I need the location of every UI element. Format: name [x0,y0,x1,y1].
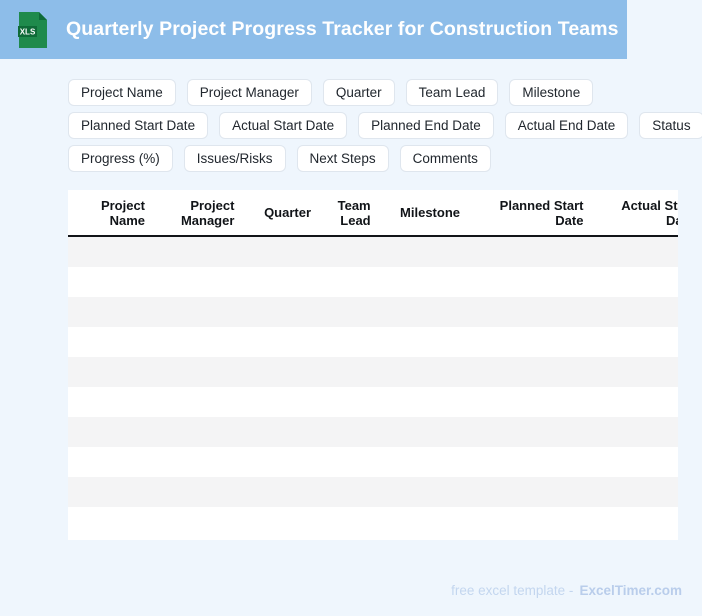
table-cell[interactable] [466,477,589,507]
table-cell[interactable] [466,417,589,447]
table-row[interactable] [68,327,678,357]
table-row[interactable] [68,387,678,417]
table-cell[interactable] [377,387,466,417]
table-cell[interactable] [317,477,377,507]
table-cell[interactable] [466,447,589,477]
table-cell[interactable] [377,447,466,477]
field-chip-quarter[interactable]: Quarter [323,79,395,106]
column-header-planned-start-date[interactable]: Planned Start Date [466,190,589,236]
table-cell[interactable] [151,477,240,507]
field-chip-milestone[interactable]: Milestone [509,79,593,106]
table-cell[interactable] [466,327,589,357]
table-cell[interactable] [151,507,240,537]
table-cell[interactable] [317,447,377,477]
table-cell[interactable] [377,267,466,297]
field-chip-project-manager[interactable]: Project Manager [187,79,312,106]
table-cell[interactable] [317,357,377,387]
table-cell[interactable] [68,447,151,477]
table-cell[interactable] [377,236,466,267]
table-header-row: Project Name Project Manager Quarter Tea… [68,190,678,236]
table-cell[interactable] [240,297,317,327]
table-cell[interactable] [68,327,151,357]
table-cell[interactable] [317,236,377,267]
table-cell[interactable] [377,507,466,537]
table-cell[interactable] [151,267,240,297]
field-chip-status[interactable]: Status [639,112,702,139]
field-chip-row-1: Project Name Project Manager Quarter Tea… [68,79,688,106]
table-row[interactable] [68,297,678,327]
table-cell[interactable] [317,297,377,327]
table-cell[interactable] [466,236,589,267]
table-cell[interactable] [151,297,240,327]
table-cell[interactable] [589,447,678,477]
tracker-table: Project Name Project Manager Quarter Tea… [68,190,678,537]
table-cell[interactable] [151,236,240,267]
table-cell[interactable] [589,297,678,327]
table-cell[interactable] [240,387,317,417]
table-cell[interactable] [68,507,151,537]
table-cell[interactable] [466,387,589,417]
table-cell[interactable] [589,267,678,297]
table-row[interactable] [68,417,678,447]
table-cell[interactable] [466,267,589,297]
table-row[interactable] [68,507,678,537]
table-cell[interactable] [68,236,151,267]
table-cell[interactable] [466,507,589,537]
table-cell[interactable] [240,267,317,297]
table-cell[interactable] [317,417,377,447]
table-cell[interactable] [240,236,317,267]
table-cell[interactable] [466,297,589,327]
table-cell[interactable] [68,477,151,507]
table-row[interactable] [68,236,678,267]
column-header-project-name[interactable]: Project Name [68,190,151,236]
field-chip-planned-end-date[interactable]: Planned End Date [358,112,494,139]
table-cell[interactable] [68,417,151,447]
field-chip-actual-start-date[interactable]: Actual Start Date [219,112,347,139]
footer-text: free excel template - [451,583,573,598]
tracker-table-container[interactable]: Project Name Project Manager Quarter Tea… [68,190,678,540]
table-cell[interactable] [377,297,466,327]
table-cell[interactable] [68,297,151,327]
table-cell[interactable] [377,327,466,357]
table-cell[interactable] [240,327,317,357]
field-chip-project-name[interactable]: Project Name [68,79,176,106]
table-cell[interactable] [317,327,377,357]
table-cell[interactable] [151,387,240,417]
table-row[interactable] [68,447,678,477]
table-cell[interactable] [151,357,240,387]
table-cell[interactable] [151,417,240,447]
field-chip-planned-start-date[interactable]: Planned Start Date [68,112,208,139]
column-header-quarter[interactable]: Quarter [240,190,317,236]
table-cell[interactable] [240,507,317,537]
table-cell[interactable] [466,357,589,387]
table-row[interactable] [68,267,678,297]
field-chip-row-3: Progress (%) Issues/Risks Next Steps Com… [68,145,688,172]
table-row[interactable] [68,477,678,507]
table-cell[interactable] [151,447,240,477]
table-cell[interactable] [317,267,377,297]
table-cell[interactable] [589,236,678,267]
field-chip-team-lead[interactable]: Team Lead [406,79,499,106]
table-row[interactable] [68,357,678,387]
table-cell[interactable] [240,477,317,507]
table-cell[interactable] [589,477,678,507]
page-title: Quarterly Project Progress Tracker for C… [66,20,619,40]
table-cell[interactable] [377,357,466,387]
svg-text:XLS: XLS [20,27,36,36]
table-cell[interactable] [240,357,317,387]
table-cell[interactable] [68,267,151,297]
table-cell[interactable] [589,327,678,357]
field-chip-actual-end-date[interactable]: Actual End Date [505,112,629,139]
table-body [68,236,678,537]
table-cell[interactable] [377,477,466,507]
table-cell[interactable] [68,357,151,387]
table-cell[interactable] [589,387,678,417]
table-header: Project Name Project Manager Quarter Tea… [68,190,678,236]
table-cell[interactable] [317,507,377,537]
table-cell[interactable] [68,387,151,417]
table-cell[interactable] [317,387,377,417]
table-cell[interactable] [151,327,240,357]
column-header-team-lead[interactable]: Team Lead [317,190,377,236]
field-chip-issues-risks[interactable]: Issues/Risks [184,145,286,172]
field-chip-next-steps[interactable]: Next Steps [297,145,389,172]
table-cell[interactable] [589,417,678,447]
table-cell[interactable] [240,447,317,477]
table-cell[interactable] [377,417,466,447]
footer-attribution: free excel template -ExcelTimer.com [451,583,682,598]
table-cell[interactable] [589,357,678,387]
column-header-actual-start-date[interactable]: Actual Start Date [589,190,678,236]
footer-brand-link[interactable]: ExcelTimer.com [579,583,682,598]
field-chip-progress[interactable]: Progress (%) [68,145,173,172]
column-header-project-manager[interactable]: Project Manager [151,190,240,236]
column-header-milestone[interactable]: Milestone [377,190,466,236]
app-header: XLS Quarterly Project Progress Tracker f… [0,0,627,59]
field-chip-comments[interactable]: Comments [400,145,491,172]
xls-file-icon: XLS [18,11,48,49]
table-cell[interactable] [589,507,678,537]
table-cell[interactable] [240,417,317,447]
field-chip-row-2: Planned Start Date Actual Start Date Pla… [68,112,688,139]
field-chip-group: Project Name Project Manager Quarter Tea… [68,79,688,178]
